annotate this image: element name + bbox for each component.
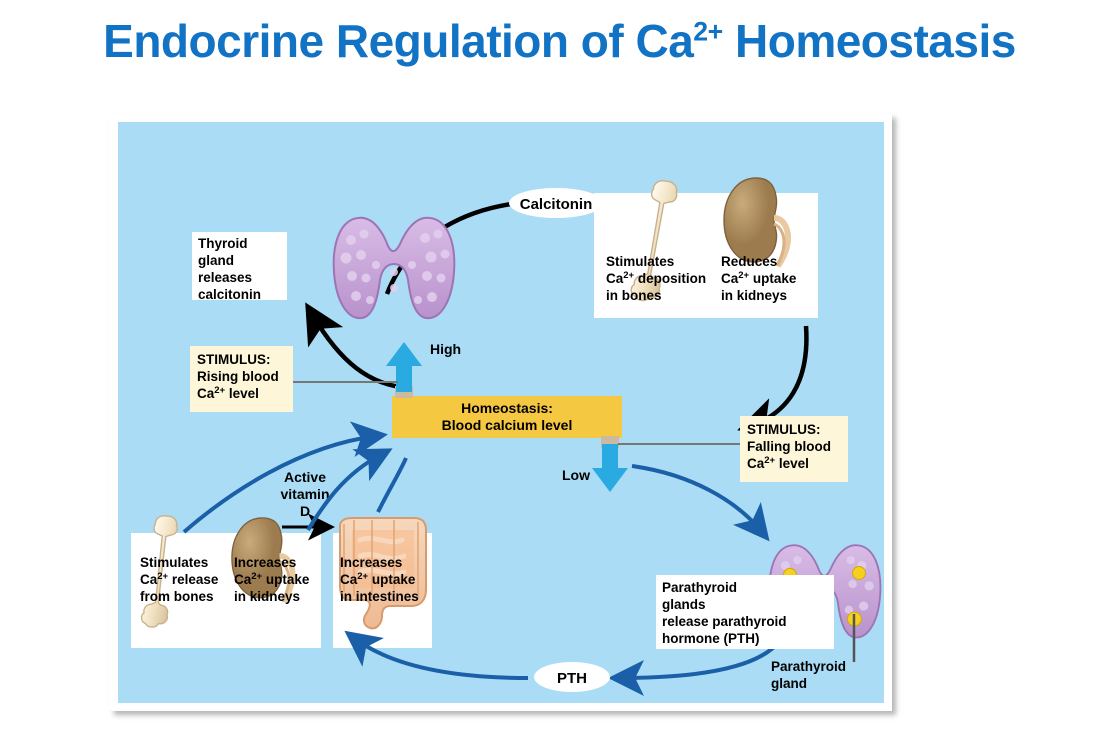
uptake-kidneys-line-2: Ca2+ uptake: [234, 571, 310, 587]
stimulus-falling-line-2: Falling blood: [747, 439, 831, 454]
parathyroid-callout-line-1: Parathyroid: [771, 659, 846, 674]
stimulus-rising-sup: 2+: [214, 385, 225, 396]
uptake-intestines-sup: 2+: [357, 571, 368, 582]
reduces-kidneys-line-1: Reduces: [721, 254, 777, 269]
stimulates-bones-sup: 2+: [623, 270, 634, 281]
parathyroid-label-line-4: hormone (PTH): [662, 631, 760, 646]
stimulates-bones-line-1: Stimulates: [606, 254, 674, 269]
uptake-intestines-line-1: Increases: [340, 555, 402, 570]
stimulates-bones-line-3: in bones: [606, 288, 662, 303]
release-bones-ca: Ca: [140, 572, 158, 587]
active-vitamin-d-line-2: vitamin: [280, 486, 329, 502]
stimulus-rising-ca: Ca: [197, 386, 215, 401]
page-title-superscript: 2+: [693, 17, 722, 47]
stimulates-bones-line-2: Ca2+ deposition: [606, 270, 706, 286]
low-label: Low: [562, 467, 590, 483]
parathyroid-label-line-3: release parathyroid: [662, 614, 787, 629]
parathyroid-label-line-2: glands: [662, 597, 706, 612]
release-bones-line-3: from bones: [140, 589, 214, 604]
stimulus-rising-line-3: Ca2+ level: [197, 385, 259, 401]
high-label: High: [430, 341, 461, 357]
uptake-intestines-tail: uptake: [368, 572, 416, 587]
uptake-kidneys-ca: Ca: [234, 572, 252, 587]
active-vitamin-d-line-3: D: [300, 503, 310, 519]
page-title: Endocrine Regulation of Ca2+ Homeostasis: [0, 14, 1119, 68]
stimulus-falling-sup: 2+: [764, 455, 775, 466]
stimulates-bones-ca: Ca: [606, 271, 624, 286]
uptake-intestines-ca: Ca: [340, 572, 358, 587]
thyroid-label-line-4: calcitonin: [198, 287, 261, 302]
stimulus-rising-line-2: Rising blood: [197, 369, 279, 384]
release-bones-sup: 2+: [157, 571, 168, 582]
uptake-intestines-line-2: Ca2+ uptake: [340, 571, 416, 587]
pth-label: PTH: [557, 670, 587, 687]
release-bones-tail: release: [168, 572, 219, 587]
uptake-kidneys-sup: 2+: [251, 571, 262, 582]
homeostasis-subtitle: Blood calcium level: [442, 417, 573, 433]
homeostasis-title: Homeostasis:: [461, 400, 553, 416]
stimulus-rising-tail: level: [225, 386, 259, 401]
calcitonin-label: Calcitonin: [520, 196, 593, 213]
release-bones-line-2: Ca2+ release: [140, 571, 219, 587]
page-title-part-2: Homeostasis: [723, 15, 1016, 67]
stimulus-rising-line-1: STIMULUS:: [197, 352, 271, 367]
thyroid-label-line-2: gland: [198, 253, 234, 268]
parathyroid-callout-line-2: gland: [771, 676, 807, 691]
active-vitamin-d-line-1: Active: [284, 469, 326, 485]
reduces-kidneys-line-3: in kidneys: [721, 288, 787, 303]
reduces-kidneys-line-2: Ca2+ uptake: [721, 270, 797, 286]
page-title-part-1: Endocrine Regulation of Ca: [103, 15, 693, 67]
uptake-kidneys-line-1: Increases: [234, 555, 296, 570]
reduces-kidneys-tail: uptake: [749, 271, 797, 286]
uptake-kidneys-tail: uptake: [262, 572, 310, 587]
uptake-kidneys-line-3: in kidneys: [234, 589, 300, 604]
reduces-kidneys-sup: 2+: [738, 270, 749, 281]
diagram-figure: Calcitonin Thyroid gland releases calcit…: [110, 114, 892, 711]
thyroid-label-line-1: Thyroid: [198, 236, 248, 251]
thyroid-label-line-3: releases: [198, 270, 252, 285]
parathyroid-dot-2: [853, 567, 866, 580]
reduces-kidneys-ca: Ca: [721, 271, 739, 286]
release-bones-line-1: Stimulates: [140, 555, 208, 570]
stimulus-falling-ca: Ca: [747, 456, 765, 471]
uptake-intestines-line-3: in intestines: [340, 589, 419, 604]
parathyroid-label-line-1: Parathyroid: [662, 580, 737, 595]
stimulates-bones-tail: deposition: [634, 271, 706, 286]
stimulus-falling-tail: level: [775, 456, 809, 471]
stimulus-falling-line-1: STIMULUS:: [747, 422, 821, 437]
stimulus-falling-line-3: Ca2+ level: [747, 455, 809, 471]
